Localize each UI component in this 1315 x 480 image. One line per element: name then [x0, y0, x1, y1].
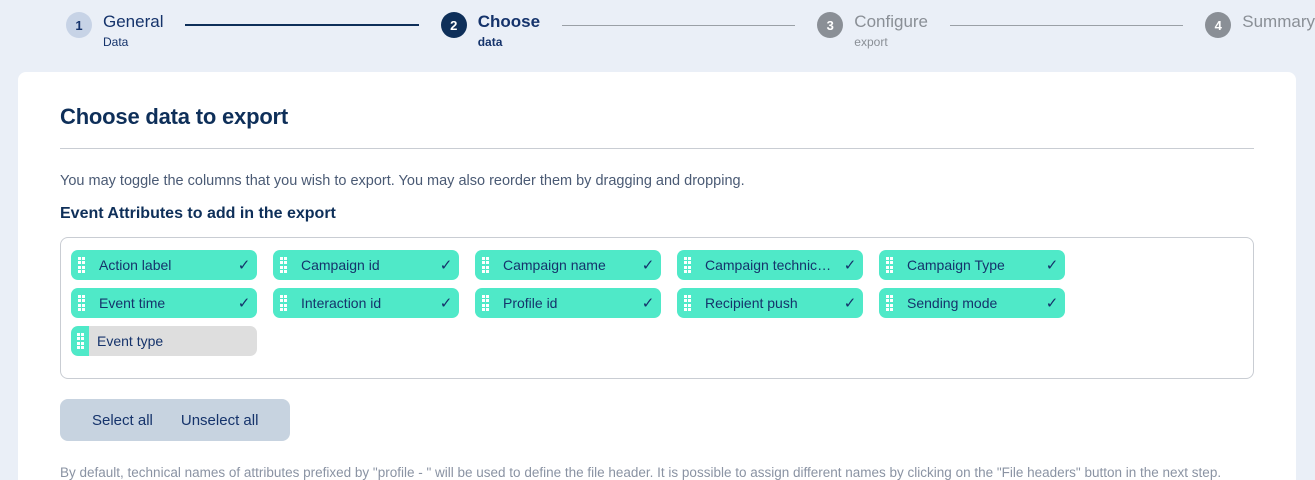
attribute-chip[interactable]: Action label✓ [71, 250, 257, 280]
footer-note: By default, technical names of attribute… [60, 465, 1254, 480]
check-icon: ✓ [433, 296, 459, 311]
attribute-chip[interactable]: Campaign name✓ [475, 250, 661, 280]
attribute-chip-label: Event time [91, 295, 231, 311]
section-title: Event Attributes to add in the export [60, 205, 1272, 223]
check-icon: ✓ [635, 296, 661, 311]
attribute-chip-label: Campaign Type [899, 257, 1039, 273]
step-text-1: GeneralData [103, 12, 163, 49]
drag-handle-icon[interactable] [273, 288, 293, 318]
stepper-step-1[interactable]: 1GeneralData [0, 0, 163, 49]
attribute-chip[interactable]: Campaign technical...✓ [677, 250, 863, 280]
attribute-chip[interactable]: Sending mode✓ [879, 288, 1065, 318]
step-title-2: Choose [478, 12, 540, 33]
step-text-2: Choosedata [478, 12, 540, 49]
select-all-button[interactable]: Select all [78, 412, 167, 429]
step-subtitle-1: Data [103, 35, 163, 50]
drag-handle-icon[interactable] [475, 288, 495, 318]
drag-handle-icon[interactable] [71, 250, 91, 280]
attribute-chip[interactable]: Campaign Type✓ [879, 250, 1065, 280]
drag-handle-icon[interactable] [879, 288, 899, 318]
step-connector-2 [540, 0, 817, 26]
step-title-3: Configure [854, 12, 928, 33]
drag-handle-icon[interactable] [879, 250, 899, 280]
check-icon: ✓ [231, 258, 257, 273]
check-icon: ✓ [231, 296, 257, 311]
attribute-chip-label: Event type [89, 333, 231, 349]
step-text-4: Summary [1242, 12, 1315, 35]
step-title-4: Summary [1242, 12, 1315, 33]
drag-handle-icon[interactable] [677, 250, 697, 280]
drag-handle-icon[interactable] [475, 250, 495, 280]
attribute-chip-label: Campaign id [293, 257, 433, 273]
step-connector-1 [163, 0, 440, 26]
drag-handle-icon[interactable] [677, 288, 697, 318]
connector-line [950, 25, 1183, 26]
connector-line [562, 25, 795, 26]
attribute-chip[interactable]: Event type✓ [71, 326, 257, 356]
attribute-chip[interactable]: Event time✓ [71, 288, 257, 318]
attribute-chip[interactable]: Interaction id✓ [273, 288, 459, 318]
intro-text: You may toggle the columns that you wish… [60, 173, 1272, 189]
step-badge-3: 3 [817, 12, 843, 38]
stepper-step-2[interactable]: 2Choosedata [441, 0, 540, 49]
step-subtitle-3: export [854, 35, 928, 50]
select-buttons-group: Select all Unselect all [60, 399, 290, 441]
attribute-chip-label: Interaction id [293, 295, 433, 311]
unselect-all-button[interactable]: Unselect all [167, 412, 273, 429]
check-icon: ✓ [837, 258, 863, 273]
attributes-container: Action label✓Campaign id✓Campaign name✓C… [60, 237, 1254, 379]
step-subtitle-2: data [478, 35, 540, 50]
step-connector-3 [928, 0, 1205, 26]
drag-handle-icon[interactable] [71, 326, 89, 356]
stepper: 1GeneralData2Choosedata3Configureexport4… [0, 0, 1315, 72]
attribute-chip-label: Campaign technical... [697, 257, 837, 273]
check-icon: ✓ [433, 258, 459, 273]
step-text-3: Configureexport [854, 12, 928, 49]
connector-line [185, 24, 418, 26]
check-icon: ✓ [837, 296, 863, 311]
attribute-chip[interactable]: Recipient push✓ [677, 288, 863, 318]
attribute-chip-label: Action label [91, 257, 231, 273]
attribute-chip-label: Profile id [495, 295, 635, 311]
attribute-chip-label: Sending mode [899, 295, 1039, 311]
check-icon: ✓ [1039, 258, 1065, 273]
attribute-chip[interactable]: Profile id✓ [475, 288, 661, 318]
stepper-step-4[interactable]: 4Summary [1205, 0, 1315, 38]
step-title-1: General [103, 12, 163, 33]
stepper-step-3[interactable]: 3Configureexport [817, 0, 928, 49]
main-card: Choose data to export You may toggle the… [18, 72, 1296, 480]
attribute-chip-label: Recipient push [697, 295, 837, 311]
page-title: Choose data to export [60, 104, 1272, 130]
check-icon: ✓ [635, 258, 661, 273]
attribute-chip-label: Campaign name [495, 257, 635, 273]
step-badge-2: 2 [441, 12, 467, 38]
attribute-chip[interactable]: Campaign id✓ [273, 250, 459, 280]
step-badge-1: 1 [66, 12, 92, 38]
title-divider [60, 148, 1254, 149]
drag-handle-icon[interactable] [273, 250, 293, 280]
check-icon: ✓ [1039, 296, 1065, 311]
drag-handle-icon[interactable] [71, 288, 91, 318]
step-badge-4: 4 [1205, 12, 1231, 38]
